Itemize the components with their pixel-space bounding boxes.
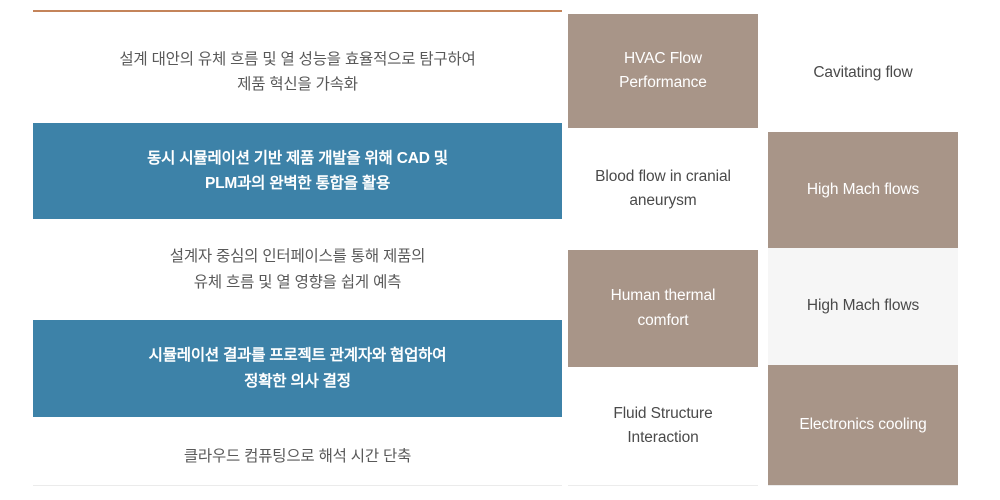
app-card-mid-4-line-1: Fluid Structure bbox=[613, 405, 712, 422]
benefit-item-5-text: 클라우드 컴퓨팅으로 해석 시간 단축 bbox=[184, 444, 411, 469]
benefit-item-2[interactable]: 동시 시뮬레이션 기반 제품 개발을 위해 CAD 및 PLM과의 완벽한 통합… bbox=[33, 123, 562, 219]
app-card-blood-flow-cranial-aneurysm-text: Blood flow in cranial aneurysm bbox=[595, 165, 731, 214]
benefit-item-4-line-1: 시뮬레이션 결과를 프로젝트 관계자와 협업하여 bbox=[149, 347, 447, 364]
benefit-item-4[interactable]: 시뮬레이션 결과를 프로젝트 관계자와 협업하여 정확한 의사 결정 bbox=[33, 320, 562, 417]
app-card-right-4-line-1: Electronics cooling bbox=[799, 416, 926, 433]
app-card-mid-1-line-1: HVAC Flow bbox=[624, 50, 702, 67]
benefit-item-4-line-2: 정확한 의사 결정 bbox=[244, 373, 351, 390]
middle-column-bottom-divider bbox=[568, 485, 758, 486]
app-card-cavitating-flow-text: Cavitating flow bbox=[813, 61, 912, 85]
benefit-item-5-line-1: 클라우드 컴퓨팅으로 해석 시간 단축 bbox=[184, 448, 411, 465]
app-card-right-2-line-1: High Mach flows bbox=[807, 181, 919, 198]
app-card-electronics-cooling-text: Electronics cooling bbox=[799, 413, 926, 437]
benefit-item-3-line-1: 설계자 중심의 인터페이스를 통해 제품의 bbox=[170, 248, 425, 265]
app-card-mid-2-line-1: Blood flow in cranial bbox=[595, 168, 731, 185]
benefit-item-3-text: 설계자 중심의 인터페이스를 통해 제품의 유체 흐름 및 열 영향을 쉽게 예… bbox=[170, 244, 425, 294]
benefits-column: 설계 대안의 유체 흐름 및 열 성능을 효율적으로 탐구하여 제품 혁신을 가… bbox=[33, 10, 562, 486]
benefit-item-3[interactable]: 설계자 중심의 인터페이스를 통해 제품의 유체 흐름 및 열 영향을 쉽게 예… bbox=[33, 222, 562, 317]
app-card-mid-2-line-2: aneurysm bbox=[629, 192, 696, 209]
app-card-right-1-line-1: Cavitating flow bbox=[813, 64, 912, 81]
middle-application-column: HVAC Flow Performance Blood flow in cran… bbox=[568, 0, 758, 500]
benefit-item-5[interactable]: 클라우드 컴퓨팅으로 해석 시간 단축 bbox=[33, 420, 562, 494]
app-card-human-thermal-comfort[interactable]: Human thermal comfort bbox=[568, 250, 758, 367]
benefit-item-1-line-1: 설계 대안의 유체 흐름 및 열 성능을 효율적으로 탐구하여 bbox=[119, 51, 475, 68]
benefit-item-1-line-2: 제품 혁신을 가속화 bbox=[237, 76, 358, 93]
app-card-high-mach-flows-primary[interactable]: High Mach flows bbox=[768, 132, 958, 248]
app-card-mid-3-line-1: Human thermal bbox=[611, 287, 716, 304]
benefit-item-2-text: 동시 시뮬레이션 기반 제품 개발을 위해 CAD 및 PLM과의 완벽한 통합… bbox=[147, 146, 448, 196]
app-card-high-mach-flows-secondary-text: High Mach flows bbox=[807, 294, 919, 318]
benefit-item-1[interactable]: 설계 대안의 유체 흐름 및 열 성능을 효율적으로 탐구하여 제품 혁신을 가… bbox=[33, 24, 562, 120]
app-card-high-mach-flows-secondary[interactable]: High Mach flows bbox=[768, 248, 958, 365]
app-card-high-mach-flows-primary-text: High Mach flows bbox=[807, 178, 919, 202]
app-card-mid-3-line-2: comfort bbox=[638, 312, 689, 329]
top-rule-divider bbox=[33, 10, 562, 12]
benefit-item-2-line-1: 동시 시뮬레이션 기반 제품 개발을 위해 CAD 및 bbox=[147, 150, 448, 167]
app-card-mid-4-line-2: Interaction bbox=[627, 429, 698, 446]
app-card-fluid-structure-interaction-text: Fluid Structure Interaction bbox=[613, 402, 712, 451]
bottom-rule-divider bbox=[33, 485, 562, 486]
right-column-bottom-divider bbox=[768, 485, 958, 486]
benefit-item-3-line-2: 유체 흐름 및 열 영향을 쉽게 예측 bbox=[194, 274, 401, 291]
app-card-human-thermal-comfort-text: Human thermal comfort bbox=[611, 284, 716, 333]
app-card-right-3-line-1: High Mach flows bbox=[807, 297, 919, 314]
app-card-mid-1-line-2: Performance bbox=[619, 74, 707, 91]
right-application-column: Cavitating flow High Mach flows High Mac… bbox=[768, 0, 958, 500]
app-card-cavitating-flow[interactable]: Cavitating flow bbox=[768, 14, 958, 132]
app-card-hvac-flow-performance[interactable]: HVAC Flow Performance bbox=[568, 14, 758, 128]
app-card-blood-flow-cranial-aneurysm[interactable]: Blood flow in cranial aneurysm bbox=[568, 128, 758, 250]
app-card-electronics-cooling[interactable]: Electronics cooling bbox=[768, 365, 958, 485]
slide-canvas: 설계 대안의 유체 흐름 및 열 성능을 효율적으로 탐구하여 제품 혁신을 가… bbox=[0, 0, 1000, 500]
benefit-item-1-text: 설계 대안의 유체 흐름 및 열 성능을 효율적으로 탐구하여 제품 혁신을 가… bbox=[119, 47, 475, 97]
app-card-hvac-flow-performance-text: HVAC Flow Performance bbox=[619, 47, 707, 96]
benefit-item-4-text: 시뮬레이션 결과를 프로젝트 관계자와 협업하여 정확한 의사 결정 bbox=[149, 343, 447, 393]
app-card-fluid-structure-interaction[interactable]: Fluid Structure Interaction bbox=[568, 367, 758, 485]
benefit-item-2-line-2: PLM과의 완벽한 통합을 활용 bbox=[205, 175, 390, 192]
